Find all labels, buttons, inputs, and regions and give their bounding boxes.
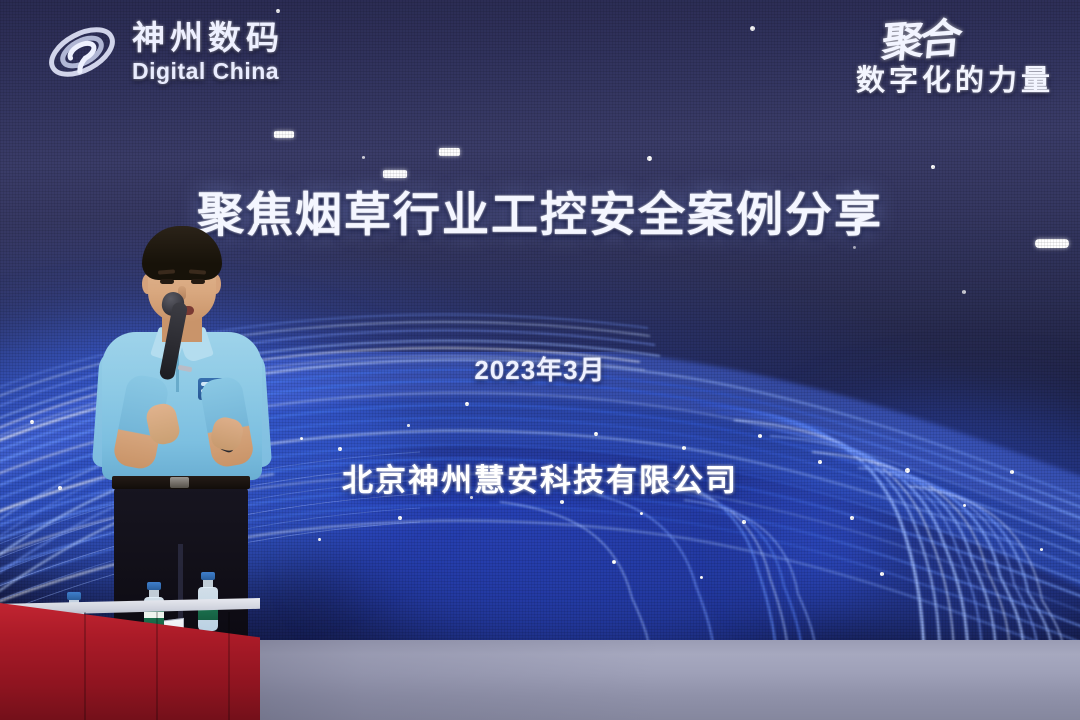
- slogan-brush-text: 聚合: [880, 19, 960, 63]
- brand-name-cn: 神州数码: [132, 21, 284, 54]
- brand-text: 神州数码 Digital China: [132, 21, 284, 83]
- stage-photo: 聚焦烟草行业工控安全案例分享 2023年3月 北京神州慧安科技有限公司 神州数码…: [0, 0, 1080, 720]
- event-slogan: 聚合 数字化的力量: [856, 22, 1054, 99]
- bottle-label-stripe: [144, 612, 164, 618]
- speaker-hair: [142, 226, 222, 280]
- spiral-swirl-logo-icon: [44, 18, 120, 86]
- bottle-cap: [201, 572, 215, 580]
- speaker-eye-right: [191, 279, 205, 284]
- brand-name-en: Digital China: [132, 60, 284, 83]
- speaker-belt-buckle: [170, 477, 189, 488]
- bottle-cap: [67, 592, 81, 600]
- table-skirt-fold: [84, 612, 86, 720]
- bottle-cap: [147, 582, 161, 590]
- table-skirt: [0, 602, 260, 720]
- panel-table: [0, 572, 260, 720]
- brand-logo: 神州数码 Digital China: [44, 18, 284, 86]
- table-skirt-fold: [156, 612, 158, 720]
- speaker-eye-left: [160, 279, 174, 284]
- table-skirt-fold: [228, 612, 230, 720]
